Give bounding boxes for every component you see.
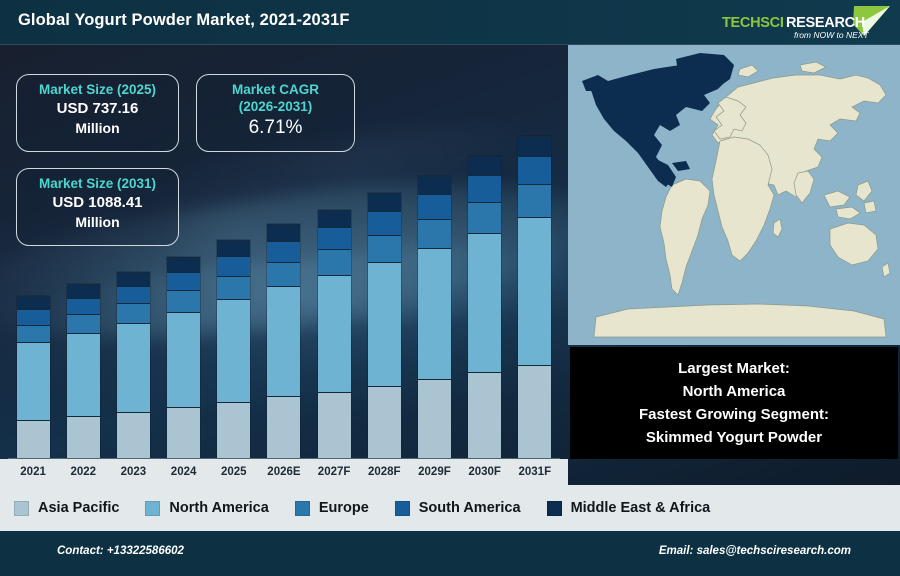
bar-segment xyxy=(267,396,300,458)
stacked-bar xyxy=(418,176,451,458)
stacked-bar xyxy=(17,296,50,458)
bar-segment xyxy=(418,176,451,194)
legend-item: South America xyxy=(395,500,521,516)
header-bar: Global Yogurt Powder Market, 2021-2031F … xyxy=(0,0,900,45)
legend-swatch xyxy=(14,501,29,516)
legend-swatch xyxy=(395,501,410,516)
bar-segment xyxy=(217,256,250,276)
bar-segment xyxy=(17,296,50,310)
stat-label-period: (2026-2031) xyxy=(197,98,354,115)
stacked-bar xyxy=(217,240,250,458)
bar-segment xyxy=(117,272,150,286)
bar-segment xyxy=(167,407,200,458)
stacked-bar xyxy=(67,284,100,458)
stacked-bar xyxy=(117,272,150,458)
bar-segment xyxy=(117,303,150,323)
info-line-fastest-segment-value: Skimmed Yogurt Powder xyxy=(646,426,822,449)
stat-unit: Million xyxy=(17,213,178,232)
techsci-research-logo: TECHSCI RESEARCH from NOW to NEXT xyxy=(714,2,894,43)
bar-segment xyxy=(267,286,300,396)
bar-segment xyxy=(418,248,451,379)
info-line-largest-market-label: Largest Market: xyxy=(678,357,790,380)
stacked-bar xyxy=(318,210,351,459)
bar-segment xyxy=(17,309,50,324)
bar-column xyxy=(463,58,507,458)
bar-segment xyxy=(67,416,100,458)
svg-text:TECHSCI: TECHSCI xyxy=(722,15,784,31)
bar-column xyxy=(362,58,406,458)
bar-segment xyxy=(418,379,451,458)
bar-segment xyxy=(518,365,551,458)
bar-segment xyxy=(318,210,351,228)
legend-label: Europe xyxy=(319,500,369,516)
legend-swatch xyxy=(145,501,160,516)
footer-email: Email: sales@techsciresearch.com xyxy=(659,545,851,557)
stat-value: 6.71% xyxy=(197,115,354,141)
bar-segment xyxy=(318,392,351,458)
legend-swatch xyxy=(295,501,310,516)
stacked-bar xyxy=(267,224,300,458)
bar-segment xyxy=(518,156,551,184)
stat-label: Market Size (2031) xyxy=(17,175,178,192)
bar-column xyxy=(513,58,557,458)
stat-value: USD 737.16 xyxy=(17,98,178,119)
bar-segment xyxy=(468,202,501,233)
bar-segment xyxy=(368,262,401,386)
bar-segment xyxy=(217,276,250,299)
bar-segment xyxy=(167,257,200,271)
bar-segment xyxy=(267,262,300,287)
bar-segment xyxy=(117,286,150,303)
legend-label: Middle East & Africa xyxy=(571,500,711,516)
bar-segment xyxy=(518,184,551,217)
bar-segment xyxy=(368,211,401,234)
chart-legend: Asia PacificNorth AmericaEuropeSouth Ame… xyxy=(0,485,900,531)
x-axis-tick-label: 2021 xyxy=(11,466,55,478)
bar-segment xyxy=(518,136,551,156)
x-axis-tick-label: 2027F xyxy=(312,466,356,478)
bar-segment xyxy=(468,156,501,175)
stat-box-market-cagr: Market CAGR (2026-2031) 6.71% xyxy=(196,74,355,152)
bar-segment xyxy=(167,290,200,311)
legend-item: Middle East & Africa xyxy=(547,500,711,516)
bar-segment xyxy=(17,420,50,458)
legend-item: Asia Pacific xyxy=(14,500,119,516)
bar-segment xyxy=(318,249,351,275)
bar-segment xyxy=(17,342,50,420)
bar-segment xyxy=(468,372,501,458)
bar-segment xyxy=(518,217,551,365)
bar-segment xyxy=(418,194,451,219)
x-axis-tick-label: 2023 xyxy=(111,466,155,478)
bar-segment xyxy=(67,298,100,314)
x-axis-labels: 202120222023202420252026E2027F2028F2029F… xyxy=(8,461,560,483)
footer-bar: Contact: +13322586602 Email: sales@techs… xyxy=(0,531,900,576)
legend-item: North America xyxy=(145,500,268,516)
world-map xyxy=(568,45,900,345)
stacked-bar xyxy=(518,136,551,458)
svg-text:RESEARCH: RESEARCH xyxy=(786,15,865,31)
stat-box-market-size-2031: Market Size (2031) USD 1088.41 Million xyxy=(16,168,179,246)
bar-segment xyxy=(368,235,401,263)
legend-label: North America xyxy=(169,500,268,516)
legend-swatch xyxy=(547,501,562,516)
stacked-bar xyxy=(468,156,501,458)
x-axis-tick-label: 2031F xyxy=(513,466,557,478)
x-axis-tick-label: 2030F xyxy=(463,466,507,478)
bar-segment xyxy=(267,241,300,262)
bar-column xyxy=(412,58,456,458)
bar-segment xyxy=(318,227,351,249)
stat-label: Market Size (2025) xyxy=(17,81,178,98)
info-line-largest-market-value: North America xyxy=(683,380,786,403)
bar-segment xyxy=(117,323,150,412)
bar-segment xyxy=(418,219,451,248)
stat-label: Market CAGR xyxy=(197,81,354,98)
x-axis-tick-label: 2026E xyxy=(262,466,306,478)
x-axis-tick-label: 2025 xyxy=(212,466,256,478)
footer-contact: Contact: +13322586602 xyxy=(57,545,184,557)
bar-segment xyxy=(117,412,150,458)
bar-segment xyxy=(217,240,250,256)
page-title: Global Yogurt Powder Market, 2021-2031F xyxy=(18,11,350,30)
bar-segment xyxy=(267,224,300,241)
bar-segment xyxy=(67,314,100,333)
bar-segment xyxy=(217,402,250,458)
stacked-bar xyxy=(368,193,401,458)
legend-label: Asia Pacific xyxy=(38,500,119,516)
bar-segment xyxy=(67,284,100,298)
bar-segment xyxy=(217,299,250,402)
bar-segment xyxy=(67,333,100,416)
info-box: Largest Market: North America Fastest Gr… xyxy=(570,347,898,459)
infographic-root: Global Yogurt Powder Market, 2021-2031F … xyxy=(0,0,900,576)
stat-box-market-size-2025: Market Size (2025) USD 737.16 Million xyxy=(16,74,179,152)
bar-segment xyxy=(468,233,501,373)
bar-segment xyxy=(318,275,351,392)
x-axis-tick-label: 2028F xyxy=(362,466,406,478)
x-axis-tick-label: 2022 xyxy=(61,466,105,478)
bar-segment xyxy=(167,312,200,408)
bar-segment xyxy=(167,272,200,290)
bar-segment xyxy=(17,325,50,343)
bar-segment xyxy=(468,175,501,201)
stacked-bar xyxy=(167,257,200,458)
x-axis-tick-label: 2024 xyxy=(162,466,206,478)
stat-unit: Million xyxy=(17,119,178,138)
info-line-fastest-segment-label: Fastest Growing Segment: xyxy=(639,403,829,426)
legend-label: South America xyxy=(419,500,521,516)
stat-value: USD 1088.41 xyxy=(17,192,178,213)
x-axis-tick-label: 2029F xyxy=(412,466,456,478)
bar-segment xyxy=(368,193,401,211)
svg-text:from NOW to NEXT: from NOW to NEXT xyxy=(794,30,869,40)
legend-item: Europe xyxy=(295,500,369,516)
bar-segment xyxy=(368,386,401,458)
